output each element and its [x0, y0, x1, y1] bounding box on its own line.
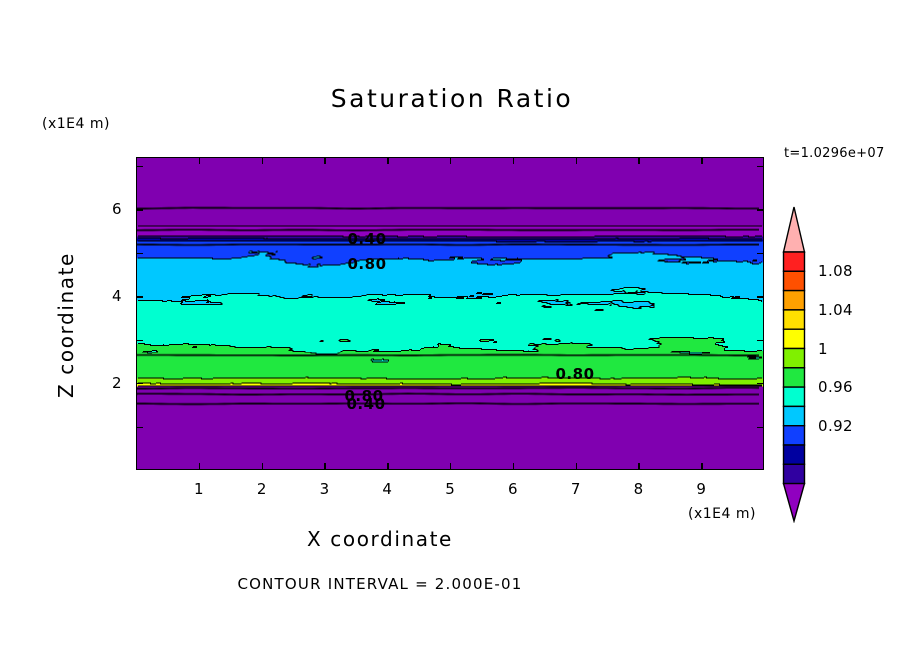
- colorbar-label: 1: [818, 340, 828, 358]
- axis-tick: [136, 166, 143, 167]
- x-tick-label: 4: [382, 480, 392, 498]
- axis-tick: [638, 463, 639, 470]
- axis-tick: [757, 427, 764, 428]
- time-stamp: t=1.0296e+07: [784, 146, 885, 161]
- y-tick-label: 2: [112, 374, 122, 392]
- axis-tick: [757, 166, 764, 167]
- colorbar-label: 1.08: [818, 262, 853, 280]
- x-tick-label: 3: [320, 480, 330, 498]
- axis-tick: [136, 383, 143, 384]
- y-unit-label: (x1E4 m): [42, 116, 110, 132]
- axis-tick: [638, 157, 639, 164]
- axis-tick: [136, 340, 143, 341]
- axis-tick: [324, 463, 325, 470]
- colorbar-label: 0.92: [818, 417, 853, 435]
- axis-tick: [450, 463, 451, 470]
- contour-label: 0.80: [347, 255, 386, 273]
- axis-tick: [199, 463, 200, 470]
- axis-tick: [757, 253, 764, 254]
- y-tick-label: 6: [112, 200, 122, 218]
- axis-tick: [136, 253, 143, 254]
- colorbar: [781, 205, 807, 523]
- axis-tick: [262, 157, 263, 164]
- x-tick-label: 7: [571, 480, 581, 498]
- contour-label: 0.80: [555, 365, 594, 383]
- saturation-field: [137, 158, 763, 469]
- colorbar-label: 1.04: [818, 301, 853, 319]
- x-tick-label: 2: [257, 480, 267, 498]
- contour-label: 0.40: [347, 230, 386, 248]
- y-tick-label: 4: [112, 287, 122, 305]
- axis-tick: [387, 157, 388, 164]
- x-tick-label: 9: [696, 480, 706, 498]
- x-tick-label: 6: [508, 480, 518, 498]
- axis-tick: [701, 157, 702, 164]
- axis-tick: [450, 157, 451, 164]
- x-unit-label: (x1E4 m): [688, 506, 756, 522]
- axis-tick: [513, 463, 514, 470]
- y-axis-title: Z coordinate: [54, 215, 78, 435]
- axis-tick: [701, 463, 702, 470]
- x-tick-label: 8: [634, 480, 644, 498]
- contour-interval-caption: CONTOUR INTERVAL = 2.000E-01: [0, 575, 760, 593]
- axis-tick: [757, 383, 764, 384]
- axis-tick: [262, 463, 263, 470]
- x-tick-label: 5: [445, 480, 455, 498]
- axis-tick: [576, 157, 577, 164]
- axis-tick: [199, 157, 200, 164]
- axis-tick: [136, 209, 143, 210]
- axis-tick: [324, 157, 325, 164]
- axis-tick: [757, 296, 764, 297]
- axis-tick: [136, 427, 143, 428]
- axis-tick: [757, 209, 764, 210]
- x-tick-label: 1: [194, 480, 204, 498]
- axis-tick: [513, 157, 514, 164]
- contour-label: 0.40: [346, 395, 385, 413]
- colorbar-label: 0.96: [818, 378, 853, 396]
- page-title: Saturation Ratio: [0, 84, 904, 113]
- x-axis-title: X coordinate: [0, 527, 760, 551]
- axis-tick: [387, 463, 388, 470]
- axis-tick: [136, 296, 143, 297]
- axis-tick: [757, 340, 764, 341]
- axis-tick: [576, 463, 577, 470]
- contour-plot: [136, 157, 764, 470]
